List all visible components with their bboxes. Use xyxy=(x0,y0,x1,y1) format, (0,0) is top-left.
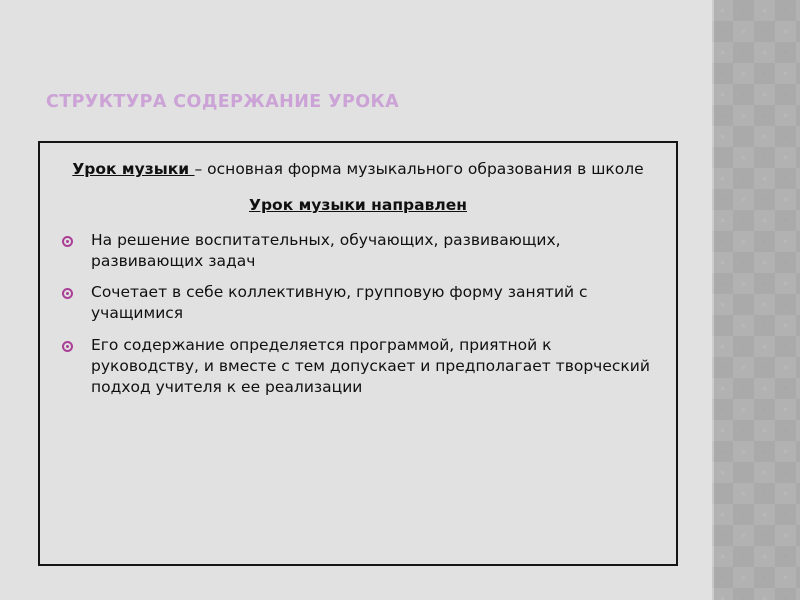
list-item: Сочетает в себе коллективную, групповую … xyxy=(62,282,654,324)
page-title: СТРУКТУРА СОДЕРЖАНИЕ УРОКА xyxy=(46,92,666,112)
lead-emphasis: Урок музыки xyxy=(72,160,194,178)
lead-paragraph: Урок музыки – основная форма музыкальног… xyxy=(62,159,654,179)
band-left-edge-highlight xyxy=(712,0,714,600)
subheading: Урок музыки направлен xyxy=(62,195,654,215)
bullet-list: На решение воспитательных, обучающих, ра… xyxy=(62,230,654,397)
decorative-argyle-band xyxy=(712,0,800,600)
ring-bullet-icon xyxy=(62,288,73,299)
argyle-motif-overlay xyxy=(712,0,800,600)
list-item-text: Сочетает в себе коллективную, групповую … xyxy=(91,283,588,322)
ring-bullet-icon xyxy=(62,341,73,352)
list-item: Его содержание определяется программой, … xyxy=(62,335,654,397)
content-box: Урок музыки – основная форма музыкальног… xyxy=(38,141,678,566)
list-item: На решение воспитательных, обучающих, ра… xyxy=(62,230,654,272)
list-item-text: На решение воспитательных, обучающих, ра… xyxy=(91,231,561,270)
ring-bullet-icon xyxy=(62,236,73,247)
lead-rest: – основная форма музыкального образовани… xyxy=(195,160,644,178)
slide-canvas: СТРУКТУРА СОДЕРЖАНИЕ УРОКА Урок музыки –… xyxy=(0,0,800,600)
list-item-text: Его содержание определяется программой, … xyxy=(91,336,650,396)
